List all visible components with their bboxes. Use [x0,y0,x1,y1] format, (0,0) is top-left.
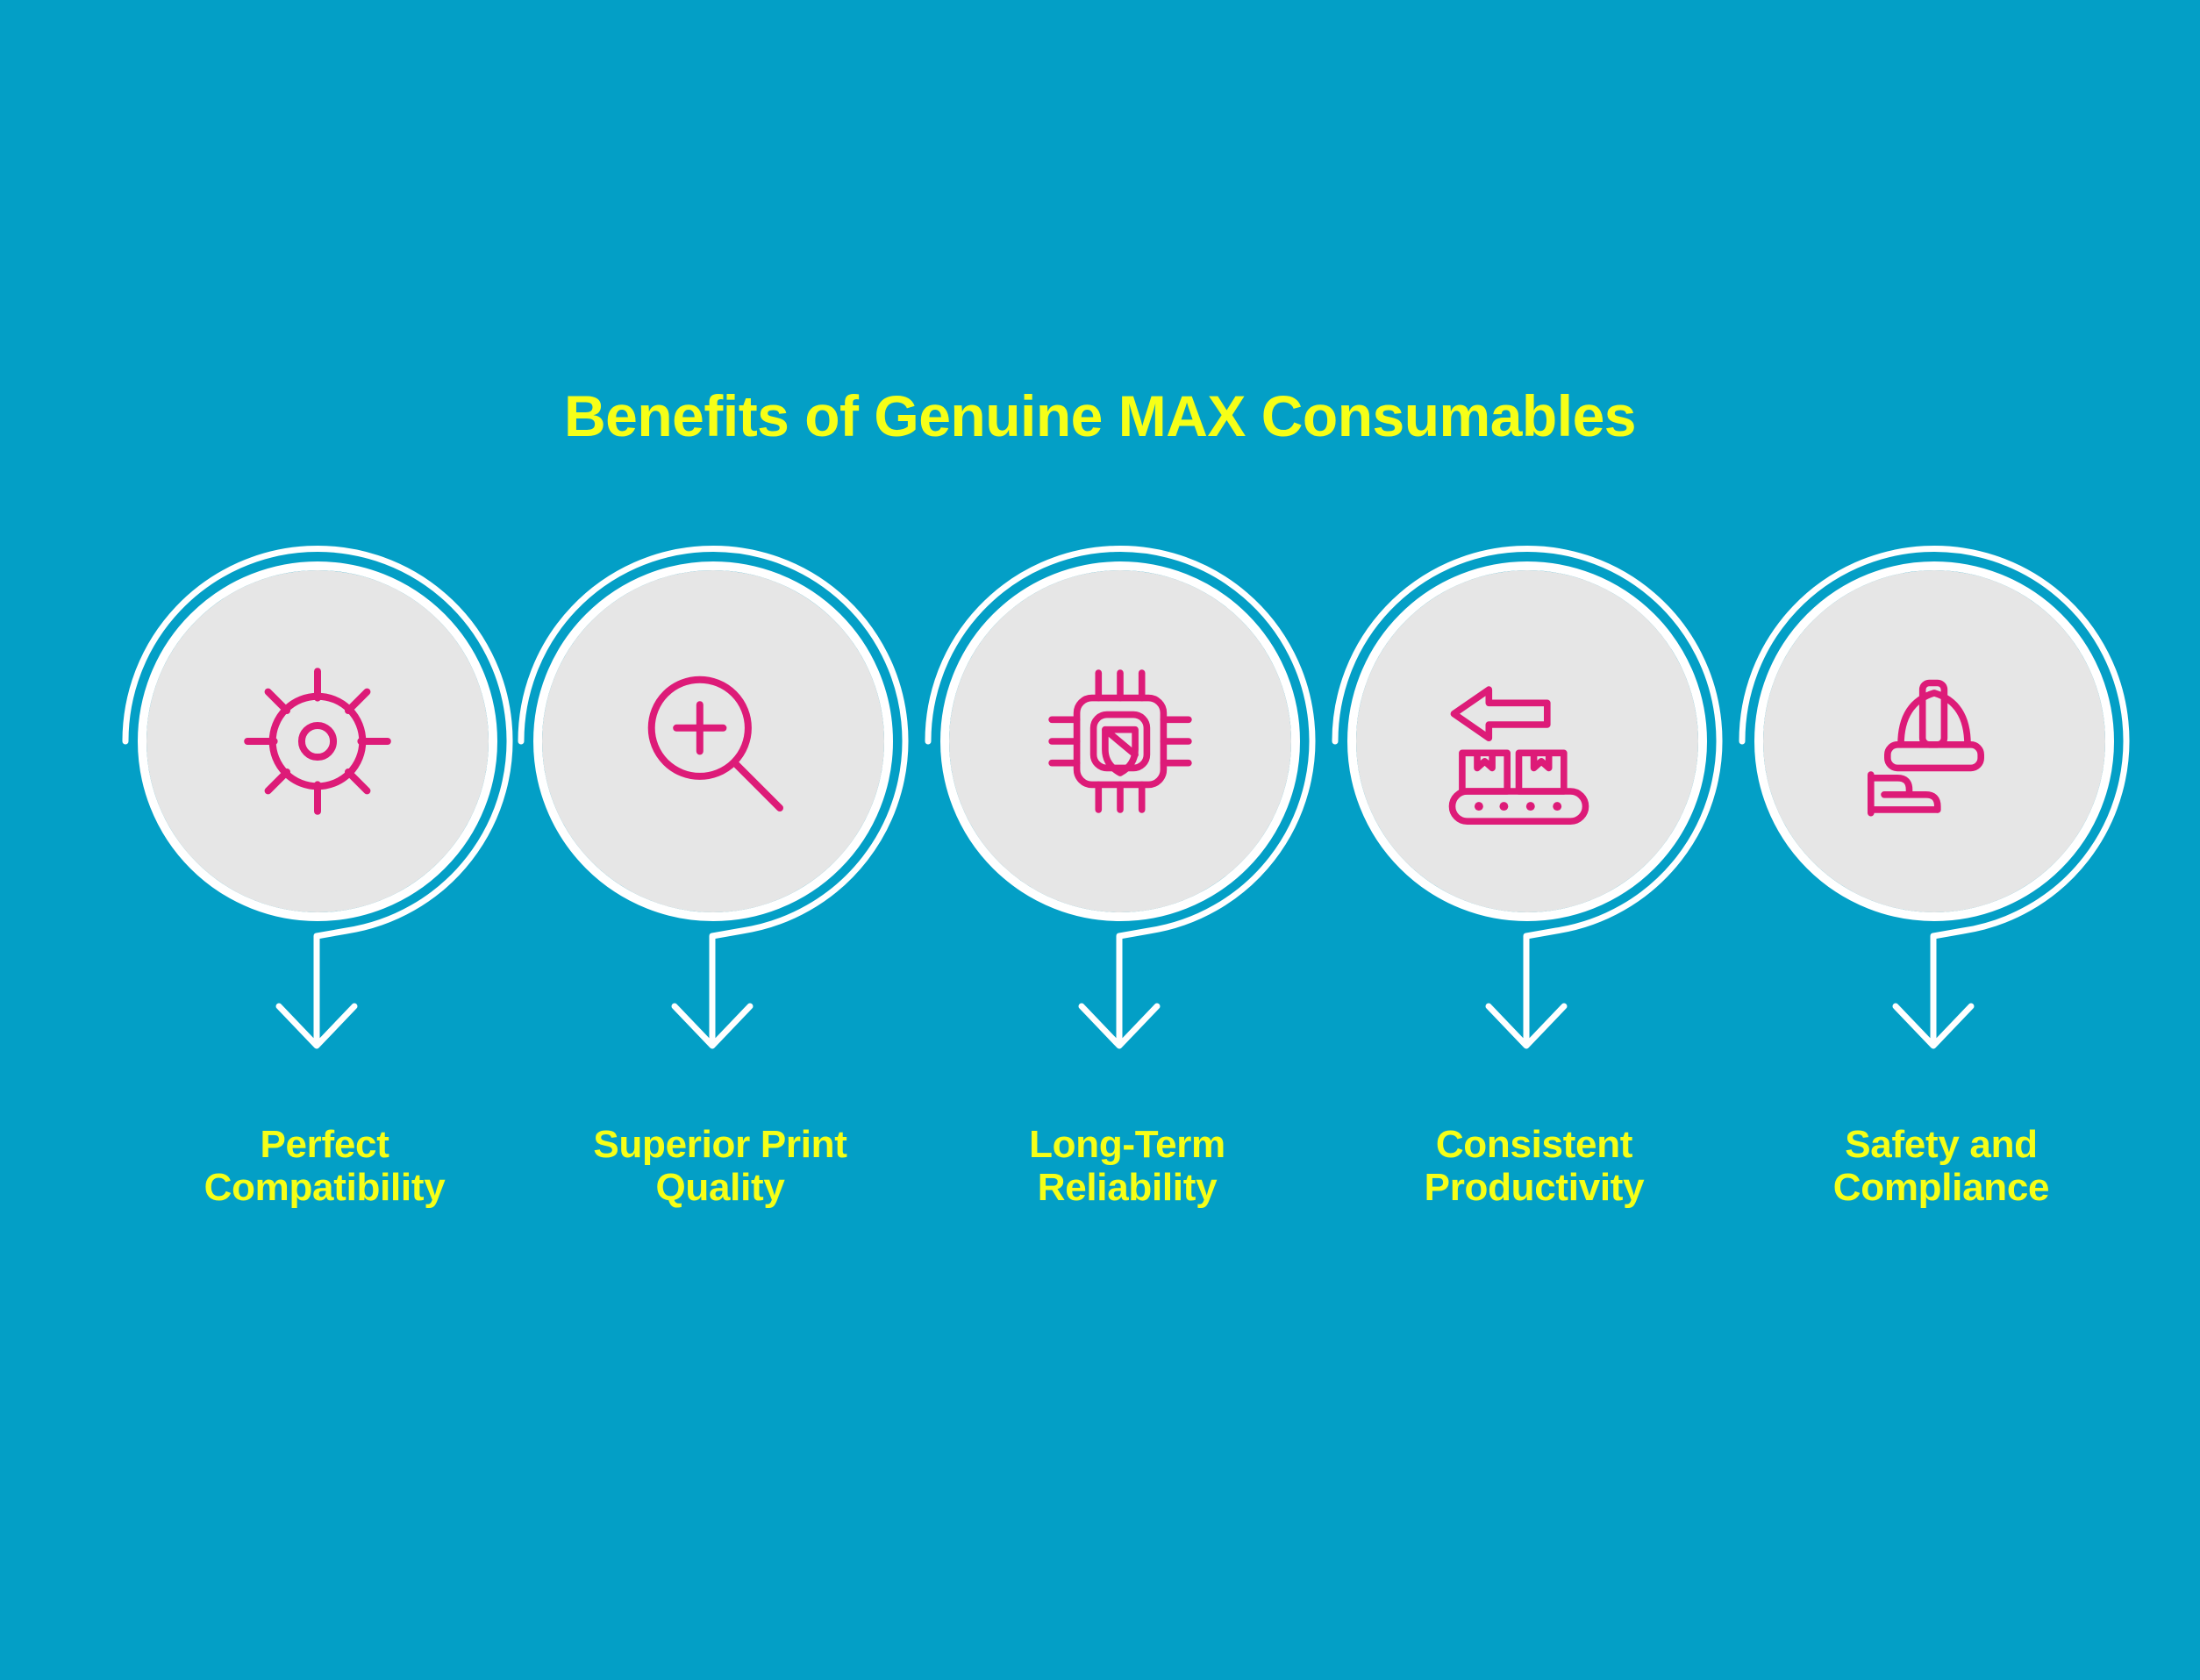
conveyor-belt-arrow-icon [1444,658,1611,825]
benefit-step-2[interactable]: Superior Print Quality [514,544,926,1333]
benefit-step-5[interactable]: Safety and Compliance [1735,544,2147,1333]
step-3-circle-group [921,544,1333,1123]
step-3-icon-disc [949,570,1291,912]
benefits-steps-row: Perfect Compatibility [0,544,2200,1333]
step-4-circle-group [1328,544,1740,1123]
target-gear-icon [234,658,401,825]
chip-shield-icon [1037,658,1204,825]
benefit-step-1[interactable]: Perfect Compatibility [118,544,531,1333]
step-4-label: Consistent Productivity [1319,1123,1749,1210]
benefit-step-4[interactable]: Consistent Productivity [1328,544,1740,1333]
step-1-icon-disc [146,570,489,912]
benefit-step-3[interactable]: Long-Term Reliability [921,544,1333,1333]
step-2-label-line-1: Superior Print [505,1123,935,1166]
step-5-label-line-1: Safety and [1726,1123,2156,1166]
infographic-canvas: Benefits of Genuine MAX Consumables [0,0,2200,1680]
step-3-label: Long-Term Reliability [912,1123,1342,1210]
step-1-circle-group [118,544,531,1123]
step-4-label-line-2: Productivity [1319,1166,1749,1209]
step-3-label-line-1: Long-Term [912,1123,1342,1166]
step-2-icon-disc [542,570,884,912]
page-title: Benefits of Genuine MAX Consumables [0,386,2200,447]
step-5-label: Safety and Compliance [1726,1123,2156,1210]
step-1-label-line-2: Compatibility [110,1166,539,1209]
step-1-label-line-1: Perfect [110,1123,539,1166]
step-2-label-line-2: Quality [505,1166,935,1209]
step-5-circle-group [1735,544,2147,1123]
step-4-label-line-1: Consistent [1319,1123,1749,1166]
step-2-circle-group [514,544,926,1123]
step-1-label: Perfect Compatibility [110,1123,539,1210]
step-3-label-line-2: Reliability [912,1166,1342,1209]
hard-hat-hand-icon [1851,658,2018,825]
step-5-icon-disc [1763,570,2105,912]
step-5-label-line-2: Compliance [1726,1166,2156,1209]
step-4-icon-disc [1356,570,1698,912]
step-2-label: Superior Print Quality [505,1123,935,1210]
magnifier-plus-icon [630,658,796,825]
